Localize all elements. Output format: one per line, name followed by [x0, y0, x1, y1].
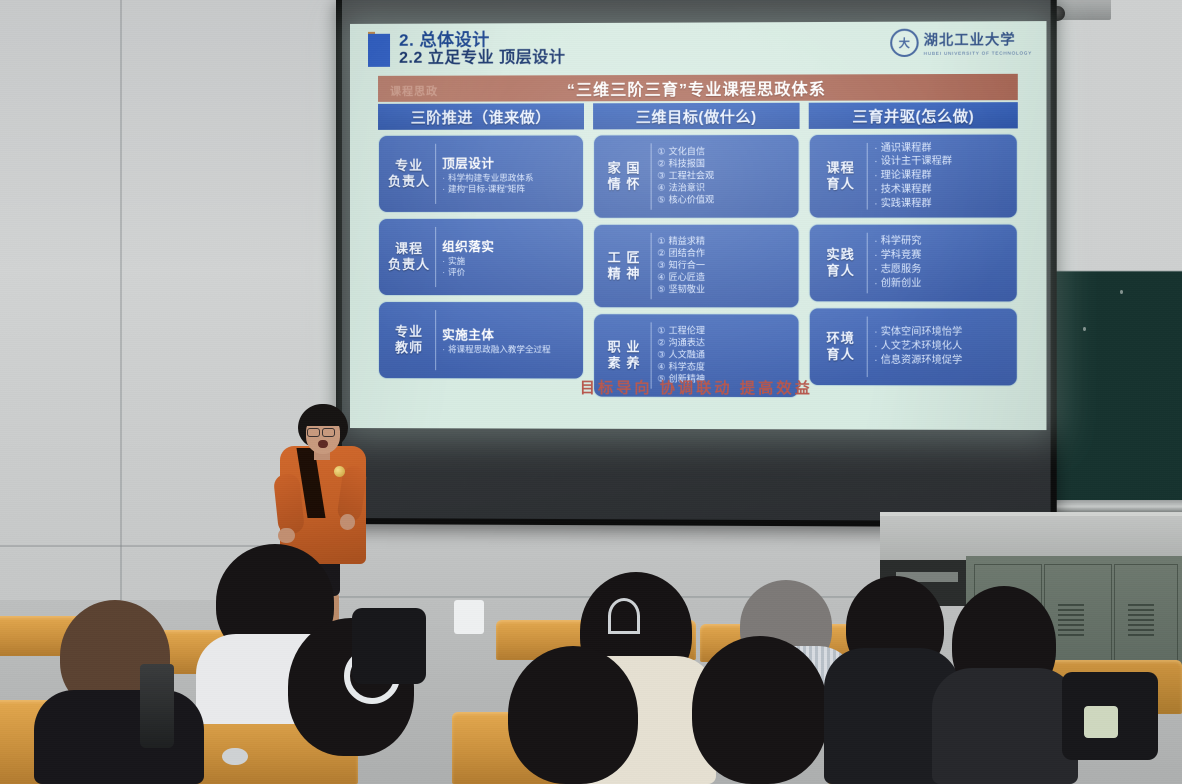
card-key-line2: 教师 — [395, 340, 423, 356]
card-list-item-text: 创新创业 — [881, 277, 922, 291]
card-list-item-text: 沟通表达 — [669, 338, 705, 350]
card-content: ·通识课程群·设计主干课程群·理论课程群·技术课程群·实践课程群 — [874, 140, 1010, 213]
list-number-icon: ① — [657, 236, 665, 248]
card-list-item-text: 工程社会观 — [669, 170, 715, 182]
blackboard-speck — [1120, 290, 1123, 294]
blackboard-chalk-rail — [1048, 500, 1182, 512]
card-list-item-text: 信息资源环境促学 — [881, 354, 963, 368]
card-list-item-text: 精益求精 — [669, 236, 705, 248]
slide-banner: 课程思政 “三维三阶三育”专业课程思政体系 — [378, 74, 1018, 102]
card-list-item: ·科学研究 — [874, 235, 1010, 249]
card-list-item-text: 技术课程群 — [881, 183, 932, 197]
presenter-hand-left — [278, 528, 295, 543]
card-key-label: 工 匠精 神 — [600, 230, 648, 302]
card-list-item-text: 设计主干课程群 — [881, 155, 952, 169]
list-number-icon: ② — [657, 248, 665, 260]
card-key-line1: 职 业 — [608, 339, 641, 355]
card-divider — [435, 144, 436, 204]
card-list-item: ⑤坚韧敬业 — [657, 284, 792, 296]
card-list-item-text: 人文融通 — [669, 350, 705, 362]
computer-mouse — [222, 748, 248, 765]
card-key-line2: 育人 — [826, 347, 855, 363]
card-list-item-text: 人文艺术环境化人 — [881, 340, 963, 354]
university-logo: 大 湖北工业大学 HUBEI UNIVERSITY OF TECHNOLOGY — [890, 28, 1032, 57]
list-bullet-icon: · — [874, 235, 877, 249]
presenter-brooch — [334, 466, 345, 477]
card-key-line2: 育人 — [826, 263, 855, 279]
card-list-item: ②科技报国 — [657, 158, 792, 170]
blackboard-speck-2 — [1083, 327, 1086, 331]
list-bullet-icon: · — [442, 256, 445, 267]
slide-subsection-title: 2.2 立足专业 顶层设计 — [399, 50, 565, 67]
card-list-item: ·通识课程群 — [874, 141, 1010, 155]
slide-footer-slogan: 目标导向 协调联动 提高效益 — [350, 376, 1046, 399]
card-list-item-text: 将课程思政融入教学全过程 — [448, 345, 551, 356]
slide-card: 家 国情 怀①文化自信②科技报国③工程社会观④法治意识⑤核心价值观 — [593, 134, 800, 219]
banner-title: “三维三阶三育”专业课程思政体系 — [567, 75, 826, 100]
slide-card: 实践育人·科学研究·学科竞赛·志愿服务·创新创业 — [809, 224, 1018, 303]
list-number-icon: ④ — [657, 272, 665, 284]
list-bullet-icon: · — [874, 183, 877, 197]
card-key-label: 家 国情 怀 — [600, 140, 648, 212]
university-name-cn: 湖北工业大学 — [924, 29, 1032, 50]
card-divider — [435, 227, 436, 287]
card-list-item: ④法治意识 — [657, 182, 792, 194]
card-key-line1: 专业 — [395, 324, 423, 340]
card-list-item: ·学科竞赛 — [874, 249, 1010, 263]
card-list-item: ·创新创业 — [874, 277, 1010, 291]
card-list-item: ·技术课程群 — [874, 183, 1010, 197]
list-bullet-icon: · — [874, 155, 877, 169]
card-content: 实施主体·将课程思政融入教学全过程 — [442, 307, 576, 373]
university-seal-icon: 大 — [890, 29, 919, 57]
university-name-en: HUBEI UNIVERSITY OF TECHNOLOGY — [924, 50, 1032, 55]
card-list-item-text: 法治意识 — [669, 182, 705, 194]
slide-columns: 三阶推进（谁来做）专业负责人顶层设计·科学构建专业思政体系·建构“目标-课程”矩… — [378, 102, 1018, 398]
card-list-item: ①精益求精 — [657, 236, 792, 248]
banner-ghost-text: 课程思政 — [390, 83, 438, 99]
list-bullet-icon: · — [442, 267, 445, 278]
list-bullet-icon: · — [874, 249, 877, 263]
card-list-item: ·科学构建专业思政体系 — [442, 172, 576, 183]
card-key-line2: 情 怀 — [608, 177, 641, 193]
card-list-item-text: 建构“目标-课程”矩阵 — [448, 184, 525, 195]
card-content: ·科学研究·学科竞赛·志愿服务·创新创业 — [874, 230, 1010, 297]
slide-section-title: 2. 总体设计 — [399, 31, 565, 49]
card-list-item-text: 工程伦理 — [669, 326, 705, 338]
card-list-item-text: 理论课程群 — [881, 169, 932, 183]
card-list-item: ③工程社会观 — [657, 170, 792, 182]
cabinet-vent-2 — [1058, 604, 1084, 638]
slide-card: 工 匠精 神①精益求精②团结合作③知行合一④匠心匠造⑤坚韧敬业 — [593, 224, 800, 309]
presenter-glasses-left — [307, 428, 320, 437]
lecture-hall-photo: 2. 总体设计 2.2 立足专业 顶层设计 大 湖北工业大学 HUBEI UNI… — [0, 0, 1182, 784]
card-key-line1: 课程 — [395, 241, 423, 257]
card-list-item: ·评价 — [442, 267, 576, 278]
card-list-item: ①文化自信 — [657, 146, 792, 158]
card-key-label: 课程育人 — [816, 140, 865, 213]
card-key-label: 专业负责人 — [385, 141, 433, 207]
list-bullet-icon: · — [874, 277, 877, 291]
audience-body-9 — [932, 668, 1078, 784]
card-list-item: ·信息资源环境促学 — [874, 354, 1010, 368]
list-number-icon: ④ — [657, 182, 665, 194]
column-header-1: 三阶推进（谁来做） — [378, 103, 584, 130]
card-list-item-text: 志愿服务 — [881, 263, 922, 277]
blackboard — [1048, 0, 1182, 520]
card-divider — [867, 233, 868, 294]
card-list-item: ①工程伦理 — [657, 326, 792, 338]
presenter-mouth — [318, 440, 328, 448]
slide-column-3: 三育并驱(怎么做)课程育人·通识课程群·设计主干课程群·理论课程群·技术课程群·… — [809, 102, 1018, 398]
card-list-item-text: 核心价值观 — [669, 194, 715, 206]
list-bullet-icon: · — [442, 173, 445, 184]
list-bullet-icon: · — [442, 345, 445, 356]
card-key-line1: 课程 — [826, 160, 855, 176]
list-bullet-icon: · — [874, 326, 877, 340]
card-key-line2: 素 养 — [608, 355, 641, 371]
slide-card: 专业负责人顶层设计·科学构建专业思政体系·建构“目标-课程”矩阵 — [378, 134, 584, 213]
card-key-line1: 家 国 — [608, 160, 641, 176]
presenter-fringe — [300, 410, 346, 426]
presenter-hand-right — [340, 514, 355, 530]
card-list-item: ·理论课程群 — [874, 169, 1010, 183]
card-list-item-text: 实体空间环境怡学 — [881, 326, 963, 340]
card-key-label: 环境育人 — [816, 313, 865, 380]
card-list-item: ②沟通表达 — [657, 338, 792, 350]
water-bottle — [140, 664, 174, 748]
list-number-icon: ⑤ — [657, 194, 665, 206]
list-number-icon: ③ — [657, 171, 665, 183]
audience-head-7 — [692, 636, 828, 784]
wall-seam-vertical — [120, 0, 122, 600]
card-key-line1: 实践 — [826, 247, 855, 263]
card-list-item-text: 科技报国 — [669, 159, 705, 171]
card-divider — [435, 310, 436, 370]
card-list-item-text: 通识课程群 — [881, 141, 932, 155]
list-number-icon: ① — [657, 147, 665, 159]
card-list-item-text: 实践课程群 — [881, 197, 932, 211]
card-list-item-text: 实施 — [448, 256, 465, 267]
cabinet-vent-3 — [1128, 604, 1154, 638]
slide-card: 课程育人·通识课程群·设计主干课程群·理论课程群·技术课程群·实践课程群 — [809, 134, 1018, 219]
card-list-item-text: 知行合一 — [669, 260, 705, 272]
list-number-icon: ④ — [657, 362, 665, 374]
card-list-item-text: 团结合作 — [669, 248, 705, 260]
column-header-2: 三维目标(做什么) — [593, 103, 800, 130]
card-list-item-text: 科学研究 — [881, 235, 922, 249]
slide-card: 环境育人·实体空间环境怡学·人文艺术环境化人·信息资源环境促学 — [809, 307, 1018, 386]
list-bullet-icon: · — [874, 340, 877, 354]
slide-card: 课程负责人组织落实·实施·评价 — [378, 218, 584, 296]
slide-card: 专业教师实施主体·将课程思政融入教学全过程 — [378, 301, 584, 379]
card-divider — [650, 143, 651, 209]
projection-screen-frame: 2. 总体设计 2.2 立足专业 顶层设计 大 湖北工业大学 HUBEI UNI… — [336, 0, 1057, 527]
presenter-glasses-right — [322, 428, 335, 437]
card-key-line2: 育人 — [826, 176, 855, 192]
card-key-label: 实践育人 — [816, 230, 865, 297]
backpack-1 — [352, 608, 426, 684]
card-divider — [867, 317, 868, 378]
slide-header: 2. 总体设计 2.2 立足专业 顶层设计 — [368, 31, 565, 67]
header-accent-blue — [368, 34, 390, 67]
card-list-item: ·志愿服务 — [874, 263, 1010, 277]
card-title: 顶层设计 — [442, 152, 576, 171]
card-list-item: ·实践课程群 — [874, 197, 1010, 211]
list-bullet-icon: · — [874, 141, 877, 155]
list-bullet-icon: · — [874, 197, 877, 211]
card-list-item: ④科学态度 — [657, 362, 792, 374]
card-key-label: 课程负责人 — [385, 224, 433, 290]
card-key-line1: 专业 — [395, 158, 423, 174]
audience-body-4 — [34, 690, 204, 784]
card-list-item-text: 评价 — [448, 267, 465, 278]
card-content: ①精益求精②团结合作③知行合一④匠心匠造⑤坚韧敬业 — [657, 230, 792, 303]
card-divider — [650, 233, 651, 299]
card-content: 组织落实·实施·评价 — [442, 224, 576, 290]
audience-hair-clip-1 — [608, 598, 640, 634]
list-number-icon: ② — [657, 338, 665, 350]
presentation-slide: 2. 总体设计 2.2 立足专业 顶层设计 大 湖北工业大学 HUBEI UNI… — [350, 21, 1046, 430]
audience-head-6 — [508, 646, 638, 784]
card-list-item: ⑤核心价值观 — [657, 194, 792, 206]
list-number-icon: ③ — [657, 350, 665, 362]
card-key-line1: 工 匠 — [608, 250, 641, 266]
card-list-item-text: 科学构建专业思政体系 — [448, 172, 533, 183]
card-list-item: ·人文艺术环境化人 — [874, 340, 1010, 354]
card-key-label: 专业教师 — [385, 307, 433, 373]
card-key-line1: 环境 — [826, 330, 855, 346]
card-key-line2: 精 神 — [608, 266, 641, 282]
card-list-item: ·建构“目标-课程”矩阵 — [442, 184, 576, 195]
list-number-icon: ② — [657, 159, 665, 171]
card-list-item-text: 文化自信 — [669, 147, 705, 159]
column-header-3: 三育并驱(怎么做) — [809, 102, 1018, 129]
card-key-line2: 负责人 — [388, 257, 430, 273]
list-number-icon: ① — [657, 326, 665, 338]
list-bullet-icon: · — [874, 263, 877, 277]
card-list-item: ·将课程思政融入教学全过程 — [442, 345, 576, 356]
card-title: 组织落实 — [442, 236, 576, 255]
list-bullet-icon: · — [874, 169, 877, 183]
card-key-line2: 负责人 — [388, 174, 430, 190]
slide-column-2: 三维目标(做什么)家 国情 怀①文化自信②科技报国③工程社会观④法治意识⑤核心价… — [593, 103, 800, 398]
card-content: 顶层设计·科学构建专业思政体系·建构“目标-课程”矩阵 — [442, 141, 576, 207]
card-divider — [867, 143, 868, 210]
card-list-item: ②团结合作 — [657, 248, 792, 260]
list-number-icon: ③ — [657, 260, 665, 272]
slide-column-1: 三阶推进（谁来做）专业负责人顶层设计·科学构建专业思政体系·建构“目标-课程”矩… — [378, 103, 584, 397]
card-list-item: ·设计主干课程群 — [874, 155, 1010, 169]
card-list-item-text: 匠心匠造 — [669, 272, 705, 284]
card-list-item-text: 科学态度 — [669, 362, 705, 374]
list-number-icon: ⑤ — [657, 284, 665, 296]
paper-stack — [454, 600, 484, 634]
card-title: 实施主体 — [442, 325, 576, 344]
card-list-item: ③人文融通 — [657, 350, 792, 362]
list-bullet-icon: · — [442, 184, 445, 195]
card-content: ①文化自信②科技报国③工程社会观④法治意识⑤核心价值观 — [657, 140, 792, 213]
card-list-item: ·实体空间环境怡学 — [874, 326, 1010, 340]
card-list-item: ·实施 — [442, 256, 576, 267]
card-list-item-text: 坚韧敬业 — [669, 284, 705, 296]
card-list-item: ④匠心匠造 — [657, 272, 792, 284]
card-list-item-text: 学科竞赛 — [881, 249, 922, 263]
card-content: ·实体空间环境怡学·人文艺术环境化人·信息资源环境促学 — [874, 313, 1010, 380]
card-list-item: ③知行合一 — [657, 260, 792, 272]
drink-cup — [1084, 706, 1118, 738]
list-bullet-icon: · — [874, 354, 877, 368]
